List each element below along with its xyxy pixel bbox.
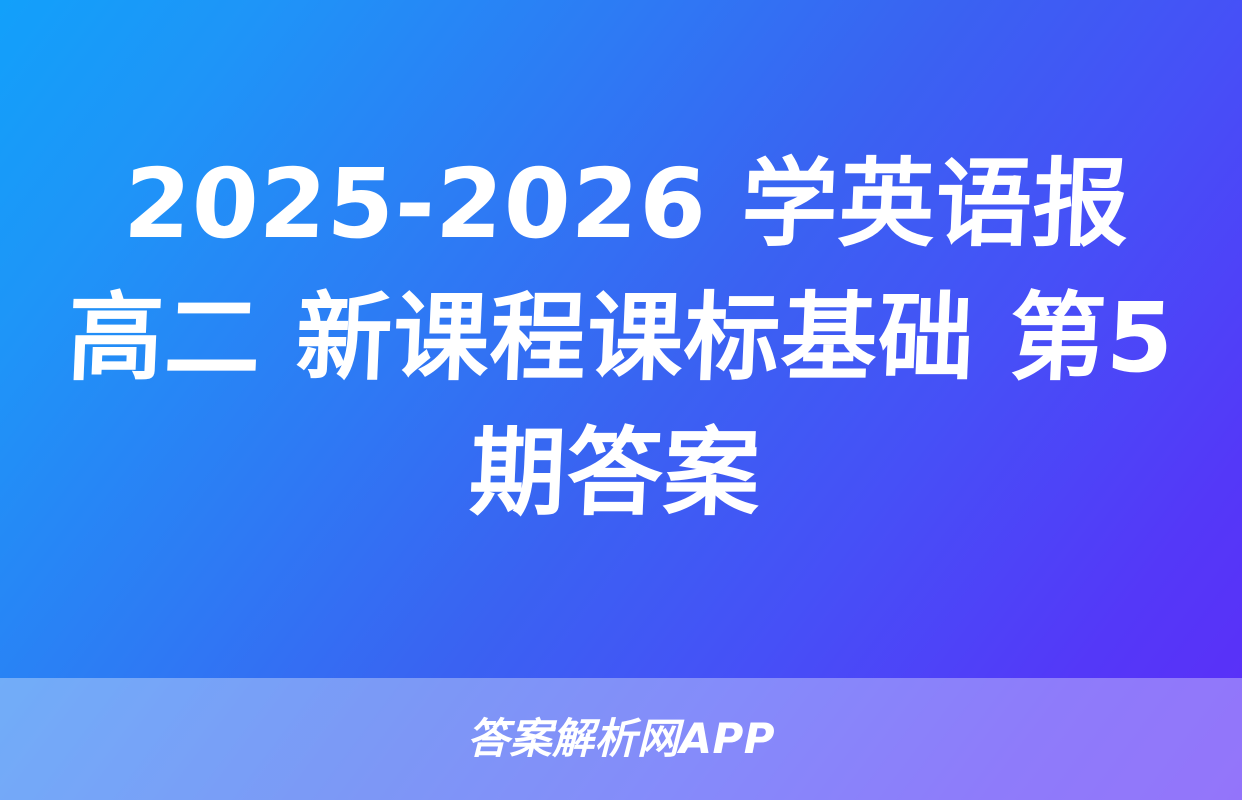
brand-footer-band: 答案解析网APP	[0, 678, 1242, 800]
page-title: 2025-2026 学英语报 高二 新课程课标基础 第5期答案	[51, 137, 1191, 540]
brand-watermark: 答案解析网APP	[467, 718, 775, 760]
title-container: 2025-2026 学英语报 高二 新课程课标基础 第5期答案	[0, 0, 1242, 678]
poster-canvas: 2025-2026 学英语报 高二 新课程课标基础 第5期答案 答案解析网APP	[0, 0, 1242, 800]
